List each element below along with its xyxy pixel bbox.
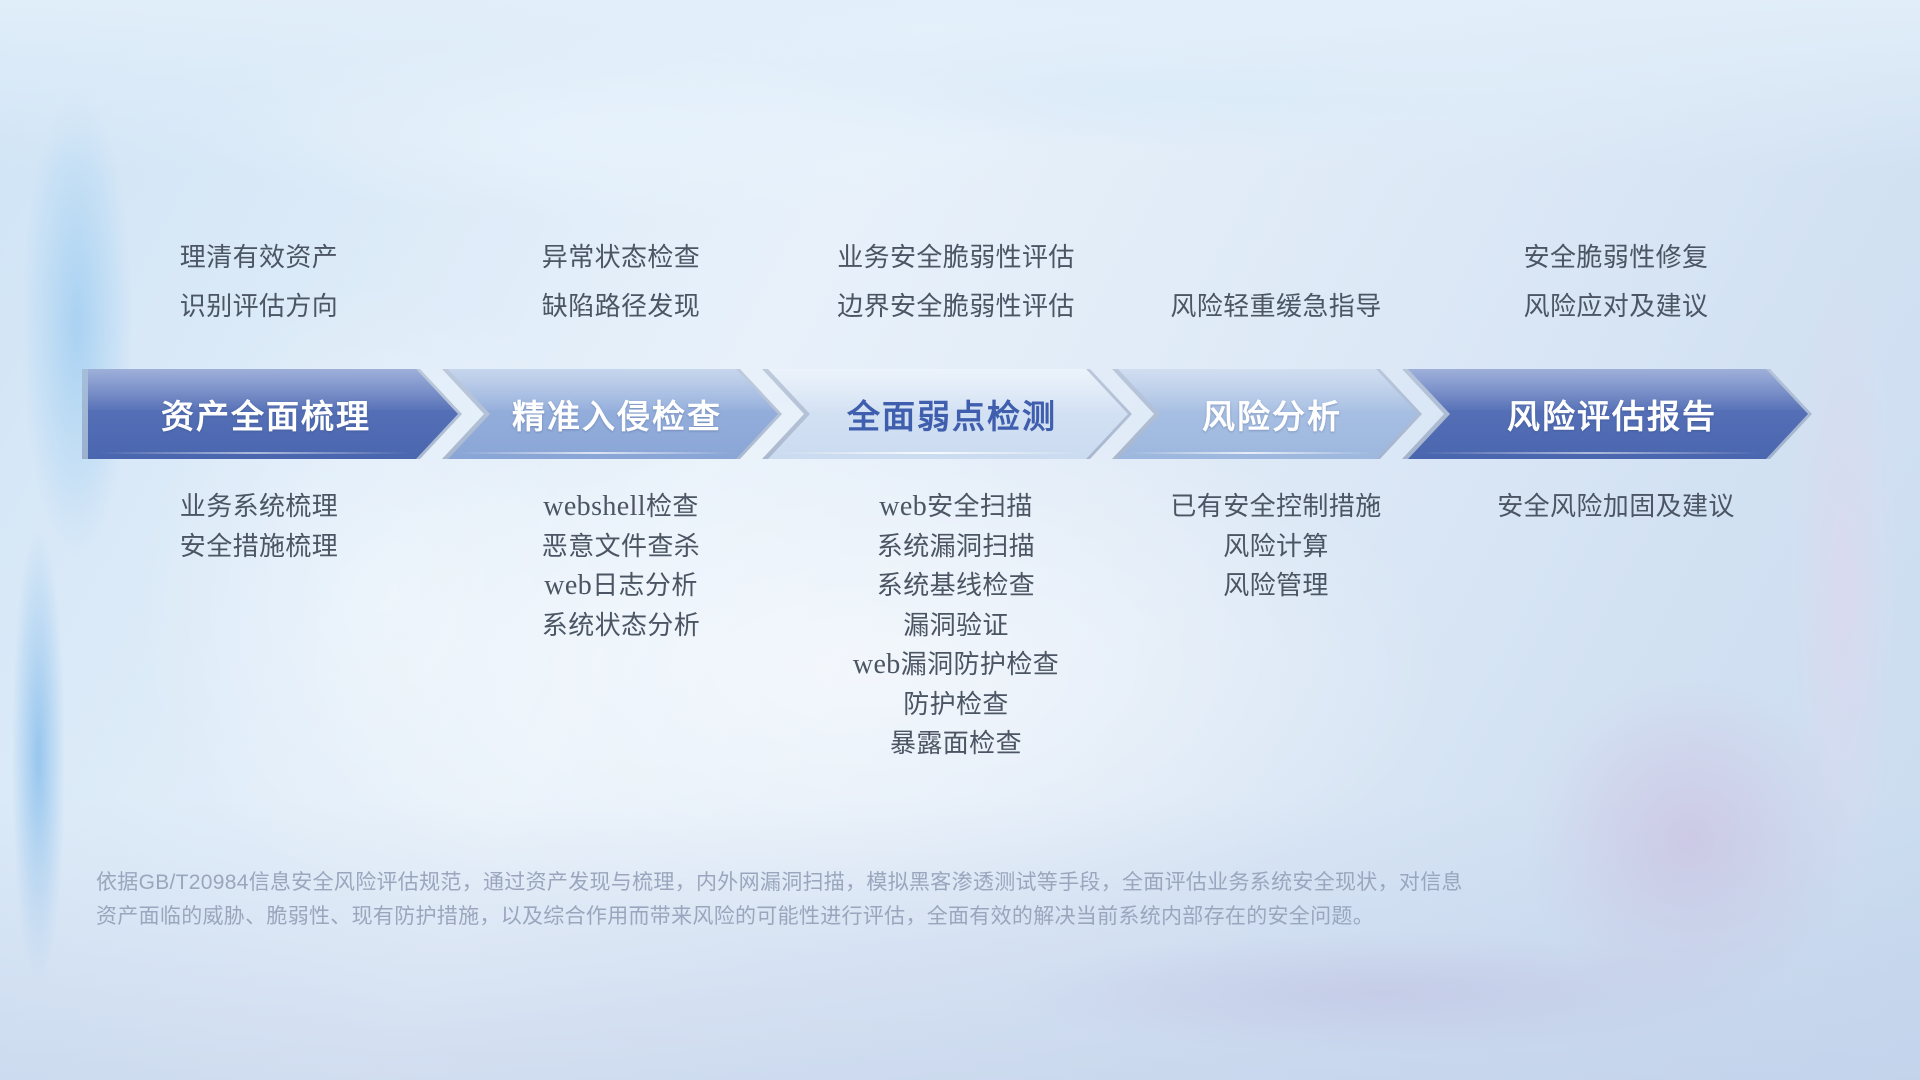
stage-1-arrow-highlight bbox=[98, 452, 412, 454]
stage-4-arrow-highlight bbox=[1128, 452, 1372, 454]
stage-2-title: 精准入侵检查 bbox=[512, 390, 722, 438]
footer-line: 依据GB/T20984信息安全风险评估规范，通过资产发现与梳理，内外网漏洞扫描，… bbox=[96, 866, 1696, 900]
stage-3-title: 全面弱点检测 bbox=[847, 390, 1057, 438]
list-item: 暴露面检查 bbox=[890, 724, 1022, 764]
stage-5-top-notes: 安全脆弱性修复风险应对及建议 bbox=[656, 233, 1920, 331]
list-item: 风险管理 bbox=[1223, 566, 1329, 606]
note-line: 风险应对及建议 bbox=[1524, 282, 1709, 331]
stage-5-arrow[interactable]: 风险评估报告 bbox=[1408, 369, 1808, 459]
list-item: web漏洞防护检查 bbox=[853, 645, 1059, 685]
stage-4-arrow[interactable]: 风险分析 bbox=[1118, 369, 1418, 459]
stage-4-title: 风险分析 bbox=[1202, 390, 1342, 438]
slide-canvas: 理清有效资产识别评估方向异常状态检查缺陷路径发现业务安全脆弱性评估边界安全脆弱性… bbox=[0, 0, 1920, 1080]
list-item: 防护检查 bbox=[903, 685, 1009, 725]
stage-3-arrow[interactable]: 全面弱点检测 bbox=[768, 369, 1128, 459]
process-arrow-band: 资产全面梳理精准入侵检查全面弱点检测风险分析风险评估报告 bbox=[88, 369, 1848, 459]
stage-5-arrow-highlight bbox=[1418, 452, 1762, 454]
stage-2-arrow[interactable]: 精准入侵检查 bbox=[448, 369, 778, 459]
stage-1-arrow[interactable]: 资产全面梳理 bbox=[88, 369, 458, 459]
stage-5-detail-list: 安全风险加固及建议 bbox=[656, 487, 1920, 527]
note-line: 安全脆弱性修复 bbox=[1524, 233, 1709, 282]
stage-3-arrow-highlight bbox=[778, 452, 1082, 454]
footer-line: 资产面临的威胁、脆弱性、现有防护措施，以及综合作用而带来风险的可能性进行评估，全… bbox=[96, 900, 1696, 934]
stage-2-arrow-highlight bbox=[458, 452, 732, 454]
footer-description: 依据GB/T20984信息安全风险评估规范，通过资产发现与梳理，内外网漏洞扫描，… bbox=[96, 866, 1696, 934]
list-item: 安全风险加固及建议 bbox=[1497, 487, 1735, 527]
stage-5-title: 风险评估报告 bbox=[1507, 390, 1717, 438]
list-item: 风险计算 bbox=[1223, 527, 1329, 567]
list-item: 漏洞验证 bbox=[903, 606, 1009, 646]
stage-1-title: 资产全面梳理 bbox=[161, 390, 371, 438]
